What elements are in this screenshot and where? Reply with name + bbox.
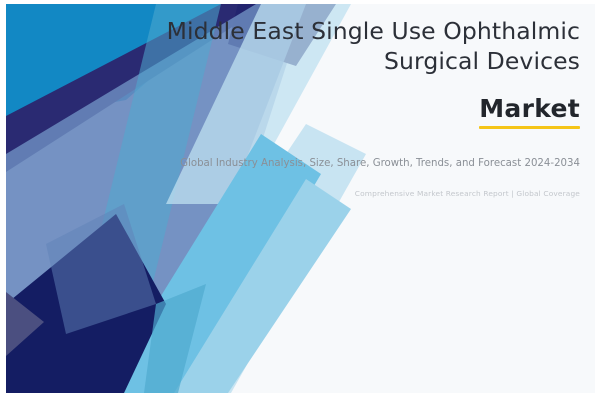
market-heading-wrap: Market bbox=[150, 95, 580, 129]
market-heading: Market bbox=[479, 95, 580, 123]
report-subtitle: Global Industry Analysis, Size, Share, G… bbox=[150, 157, 580, 172]
cover-text-block: Middle East Single Use Ophthalmic Surgic… bbox=[150, 16, 580, 199]
accent-underline bbox=[479, 126, 580, 129]
report-cover: Middle East Single Use Ophthalmic Surgic… bbox=[0, 0, 600, 400]
report-caption: Comprehensive Market Research Report | G… bbox=[150, 188, 580, 199]
cover-canvas: Middle East Single Use Ophthalmic Surgic… bbox=[6, 4, 595, 393]
page-title: Middle East Single Use Ophthalmic Surgic… bbox=[150, 16, 580, 76]
market-heading-inner: Market bbox=[479, 95, 580, 129]
